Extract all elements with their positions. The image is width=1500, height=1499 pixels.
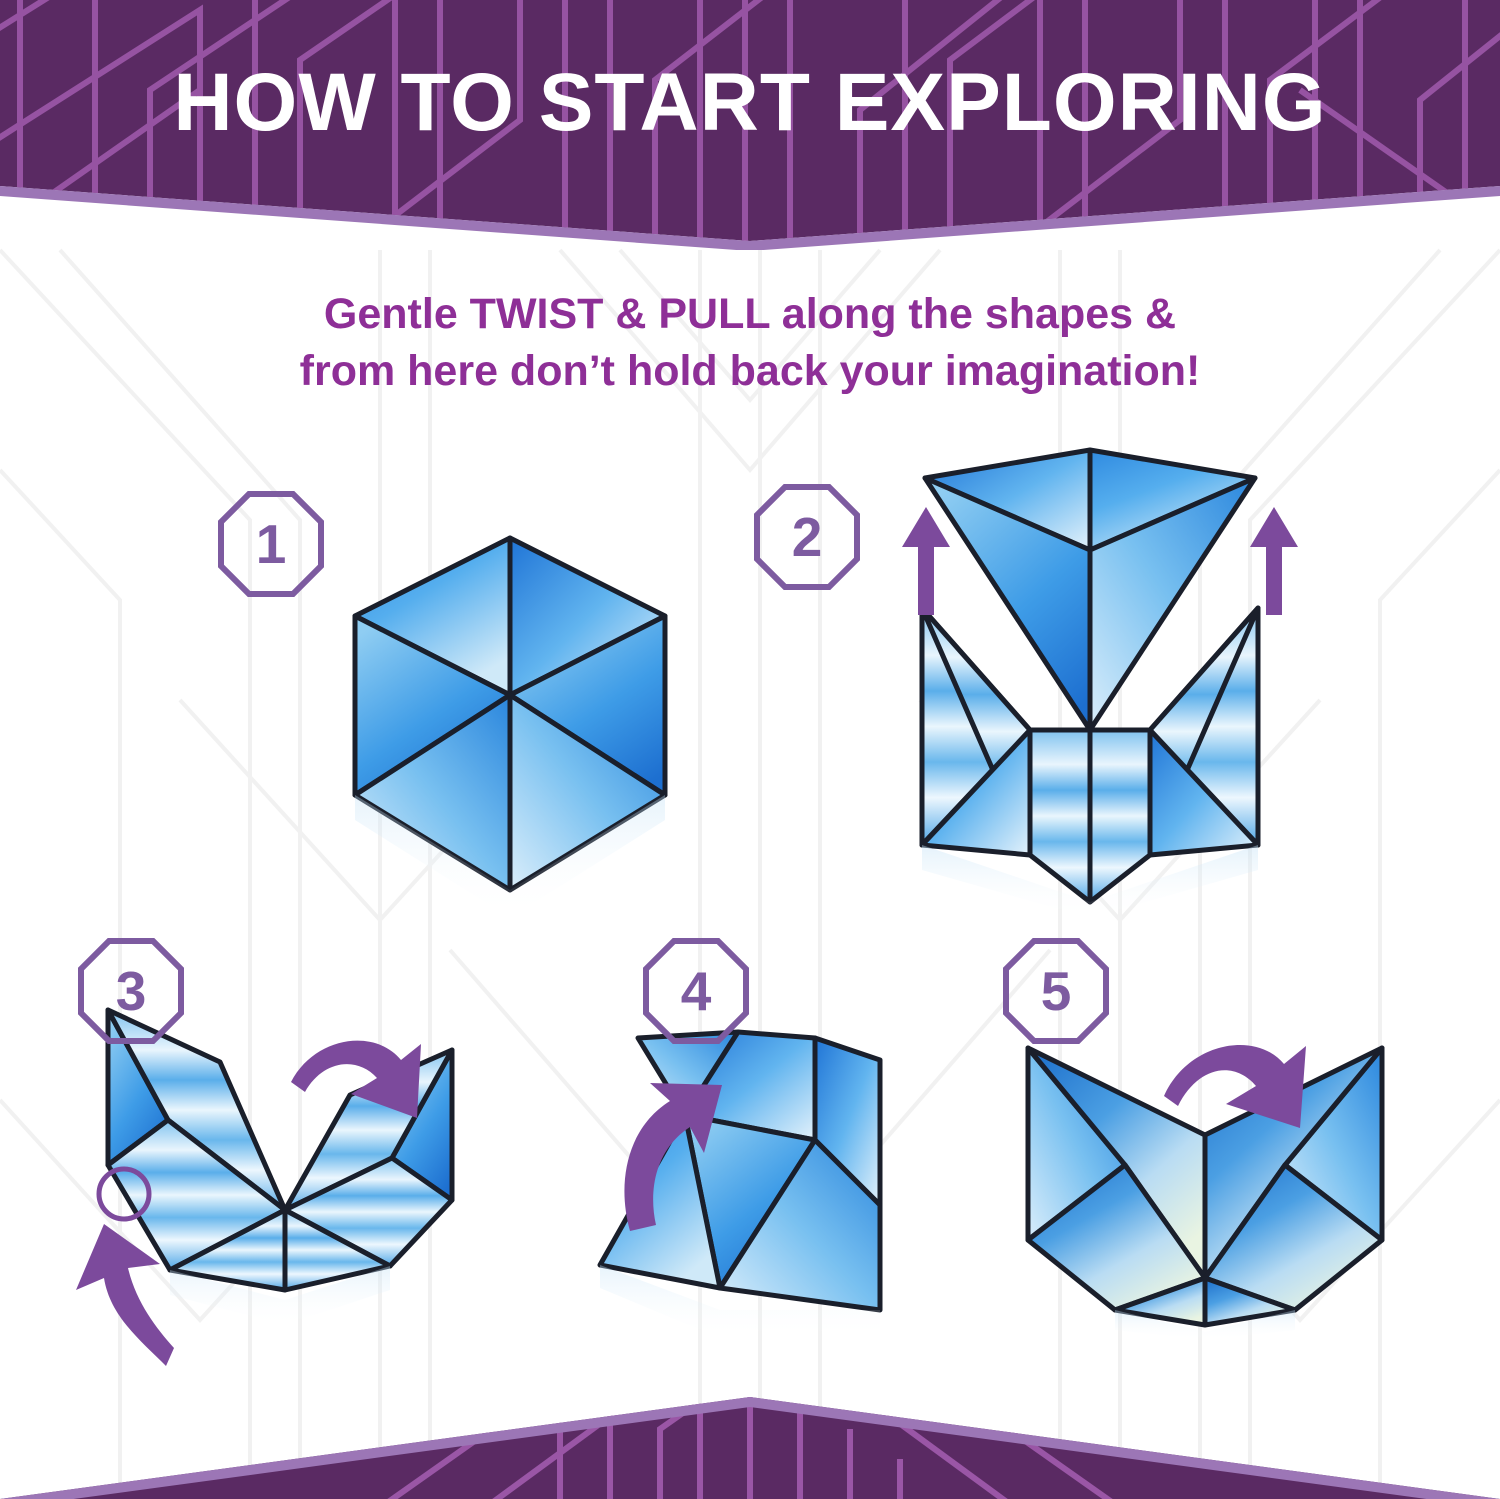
step-4-badge: 4 [643, 938, 749, 1044]
step-5-badge: 5 [1003, 938, 1109, 1044]
footer-banner [0, 1369, 1500, 1499]
step-2-arrow-up-left-icon [900, 505, 952, 617]
step-4-arrow-curve-up-right-icon [608, 1075, 728, 1235]
page-title: HOW TO START EXPLORING [0, 62, 1500, 144]
subtitle-line-1: Gentle TWIST & PULL along the shapes & [0, 286, 1500, 343]
step-3-arrow-curve-right-icon [285, 1030, 425, 1140]
step-1-figure [330, 520, 690, 920]
step-2-badge: 2 [754, 484, 860, 590]
step-2-arrow-up-right-icon [1248, 505, 1300, 617]
step-3-number: 3 [78, 938, 184, 1044]
step-5-number: 5 [1003, 938, 1109, 1044]
step-4-number: 4 [643, 938, 749, 1044]
step-3-arrow-curve-up-icon [70, 1220, 180, 1370]
step-3-hinge-highlight-circle [95, 1165, 153, 1223]
step-5-arrow-curve-right-icon [1160, 1030, 1310, 1145]
step-1-number: 1 [218, 491, 324, 597]
step-1-badge: 1 [218, 491, 324, 597]
infographic-page: HOW TO START EXPLORING Gentle TWIST & PU… [0, 0, 1500, 1499]
subtitle-text: Gentle TWIST & PULL along the shapes & f… [0, 286, 1500, 400]
header-banner: HOW TO START EXPLORING [0, 0, 1500, 250]
subtitle-line-2: from here don’t hold back your imaginati… [0, 343, 1500, 400]
step-2-number: 2 [754, 484, 860, 590]
step-3-badge: 3 [78, 938, 184, 1044]
